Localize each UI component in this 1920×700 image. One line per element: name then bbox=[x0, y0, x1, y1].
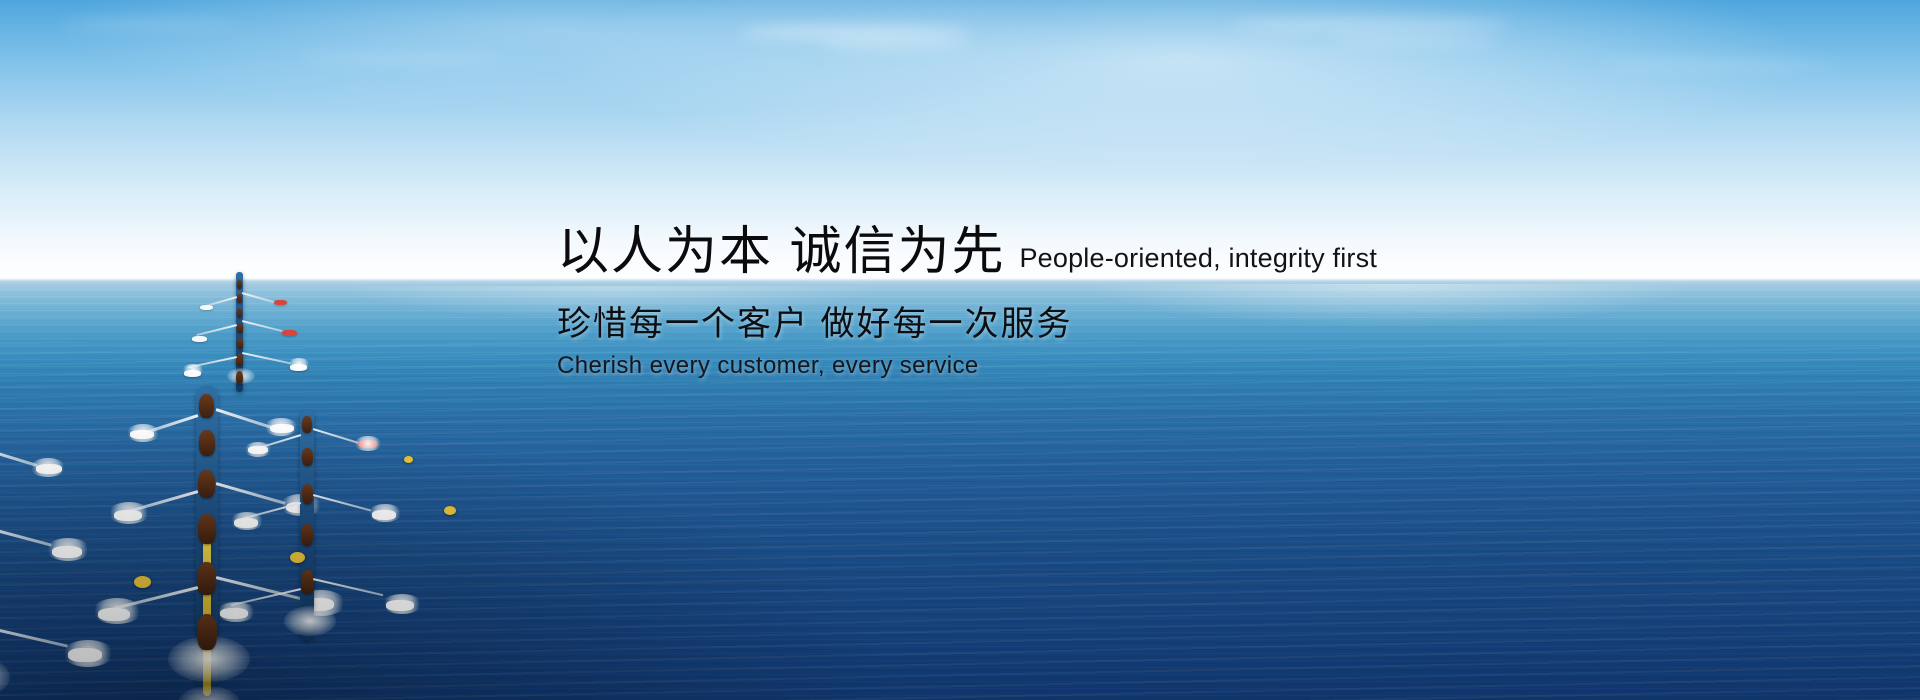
cloud-wisp bbox=[820, 40, 970, 49]
banner-copy: 以人为本 诚信为先 People-oriented, integrity fir… bbox=[557, 225, 1437, 380]
hero-banner: 以人为本 诚信为先 People-oriented, integrity fir… bbox=[0, 0, 1920, 700]
cloud-wisp bbox=[740, 26, 970, 39]
course-buoy bbox=[290, 552, 305, 563]
course-buoy bbox=[134, 576, 151, 588]
course-buoy bbox=[444, 506, 456, 515]
rowing-boats-group bbox=[0, 260, 560, 700]
headline-english: People-oriented, integrity first bbox=[1019, 243, 1377, 274]
subheadline-english: Cherish every customer, every service bbox=[557, 352, 1437, 380]
cloud-wisp bbox=[1230, 18, 1510, 32]
subheadline-chinese: 珍惜每一个客户 做好每一次服务 bbox=[557, 296, 1437, 345]
cloud-wisp bbox=[1330, 36, 1500, 46]
cloud-wisp bbox=[60, 20, 240, 29]
headline-row: 以人为本 诚信为先 People-oriented, integrity fir… bbox=[557, 225, 1437, 280]
headline-chinese: 以人为本 诚信为先 bbox=[557, 225, 1005, 280]
cloud-wisp bbox=[1600, 60, 1840, 70]
course-buoy bbox=[404, 456, 413, 463]
cloud-wisp bbox=[300, 55, 500, 63]
